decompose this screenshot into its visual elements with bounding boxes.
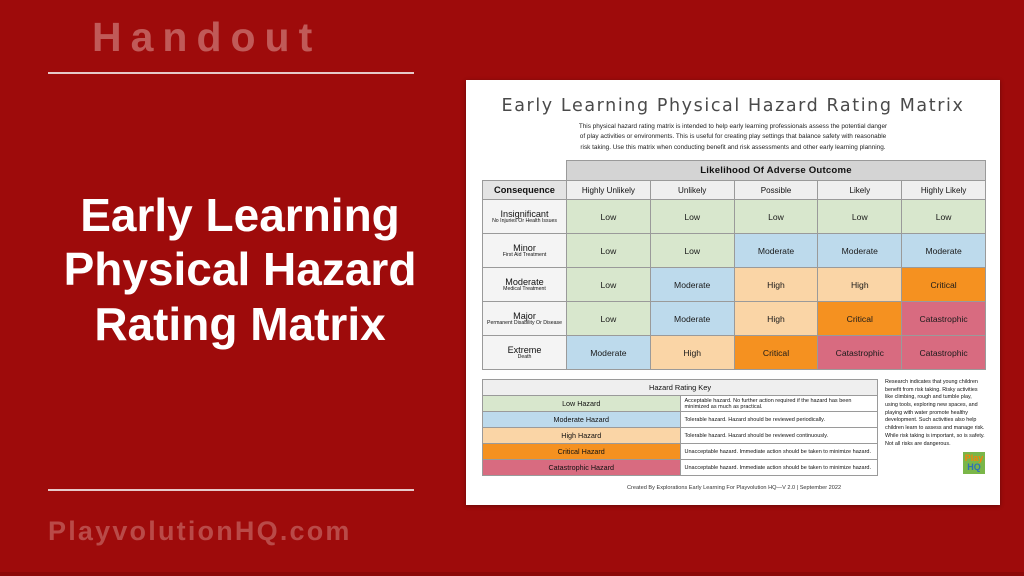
key-label-high: High Hazard	[483, 428, 681, 444]
key-row: Catastrophic HazardUnacceptable hazard. …	[483, 460, 878, 476]
matrix-cell-high: High	[650, 336, 734, 370]
matrix-cell-mod: Moderate	[567, 336, 651, 370]
key-description: Unacceptable hazard. Immediate action sh…	[680, 444, 878, 460]
column-header-highly-unlikely: Highly Unlikely	[567, 181, 651, 200]
likelihood-header: Likelihood Of Adverse Outcome	[567, 161, 986, 181]
row-header-insignificant: InsignificantNo Injuries Or Health Issue…	[483, 200, 567, 234]
hazard-rating-key-table: Hazard Rating Key Low HazardAcceptable h…	[482, 379, 878, 476]
row-header-minor: MinorFirst Aid Treatment	[483, 234, 567, 268]
matrix-cell-cat: Catastrophic	[902, 336, 986, 370]
matrix-cell-low: Low	[567, 234, 651, 268]
matrix-cell-cat: Catastrophic	[818, 336, 902, 370]
research-note: Research indicates that young children b…	[885, 379, 985, 448]
intro-line: of play activities or environments. This…	[523, 132, 943, 142]
playhq-logo: Play HQ	[963, 452, 985, 474]
matrix-row: MajorPermanent Disability Or DiseaseLowM…	[483, 302, 986, 336]
row-header-subtitle: Death	[484, 355, 565, 361]
matrix-cell-low: Low	[818, 200, 902, 234]
handout-label: Handout	[92, 14, 321, 61]
column-header-unlikely: Unlikely	[650, 181, 734, 200]
matrix-cell-low: Low	[567, 268, 651, 302]
key-label-cat: Catastrophic Hazard	[483, 460, 681, 476]
matrix-cell-low: Low	[650, 200, 734, 234]
matrix-row: ModerateMedical TreatmentLowModerateHigh…	[483, 268, 986, 302]
matrix-cell-mod: Moderate	[650, 302, 734, 336]
key-label-crit: Critical Hazard	[483, 444, 681, 460]
key-title-row: Hazard Rating Key	[483, 380, 878, 396]
matrix-cell-crit: Critical	[734, 336, 818, 370]
key-description: Tolerable hazard. Hazard should be revie…	[680, 428, 878, 444]
matrix-cell-cat: Catastrophic	[902, 302, 986, 336]
document-credit: Created By Explorations Early Learning F…	[482, 485, 986, 491]
matrix-likelihood-header-row: Likelihood Of Adverse Outcome	[483, 161, 986, 181]
matrix-row: ExtremeDeathModerateHighCriticalCatastro…	[483, 336, 986, 370]
key-label-mod: Moderate Hazard	[483, 412, 681, 428]
key-row: Critical HazardUnacceptable hazard. Imme…	[483, 444, 878, 460]
row-header-subtitle: Medical Treatment	[484, 287, 565, 293]
divider-bottom	[48, 489, 414, 491]
matrix-cell-crit: Critical	[902, 268, 986, 302]
matrix-cell-mod: Moderate	[734, 234, 818, 268]
intro-line: risk taking. Use this matrix when conduc…	[523, 143, 943, 153]
matrix-cell-low: Low	[567, 302, 651, 336]
column-header-highly-likely: Highly Likely	[902, 181, 986, 200]
matrix-cell-crit: Critical	[818, 302, 902, 336]
row-header-subtitle: Permanent Disability Or Disease	[484, 321, 565, 327]
matrix-cell-high: High	[818, 268, 902, 302]
key-description: Unacceptable hazard. Immediate action sh…	[680, 460, 878, 476]
matrix-row: MinorFirst Aid TreatmentLowLowModerateMo…	[483, 234, 986, 268]
hazard-matrix-table: Likelihood Of Adverse Outcome Consequenc…	[482, 160, 986, 370]
matrix-cell-mod: Moderate	[650, 268, 734, 302]
website-label: PlayvolutionHQ.com	[48, 516, 414, 547]
matrix-cell-high: High	[734, 268, 818, 302]
row-header-subtitle: No Injuries Or Health Issues	[484, 219, 565, 225]
row-header-moderate: ModerateMedical Treatment	[483, 268, 567, 302]
matrix-cell-mod: Moderate	[902, 234, 986, 268]
document-intro: This physical hazard rating matrix is in…	[523, 122, 943, 153]
matrix-row: InsignificantNo Injuries Or Health Issue…	[483, 200, 986, 234]
row-header-major: MajorPermanent Disability Or Disease	[483, 302, 567, 336]
document-card: Early Learning Physical Hazard Rating Ma…	[466, 80, 1000, 505]
divider-top	[48, 72, 414, 74]
document-title: Early Learning Physical Hazard Rating Ma…	[482, 96, 984, 116]
row-header-subtitle: First Aid Treatment	[484, 253, 565, 259]
key-and-research: Hazard Rating Key Low HazardAcceptable h…	[482, 379, 986, 476]
key-description: Acceptable hazard. No further action req…	[680, 396, 878, 412]
slide-root: Handout Early Learning Physical Hazard R…	[0, 0, 1024, 576]
matrix-cell-low: Low	[734, 200, 818, 234]
column-header-possible: Possible	[734, 181, 818, 200]
matrix-corner-blank	[483, 161, 567, 181]
matrix-cell-mod: Moderate	[818, 234, 902, 268]
intro-line: This physical hazard rating matrix is in…	[523, 122, 943, 132]
matrix-cell-low: Low	[567, 200, 651, 234]
matrix-cell-low: Low	[902, 200, 986, 234]
key-label-low: Low Hazard	[483, 396, 681, 412]
matrix-cell-low: Low	[650, 234, 734, 268]
row-header-extreme: ExtremeDeath	[483, 336, 567, 370]
page-title: Early Learning Physical Hazard Rating Ma…	[20, 188, 460, 351]
bottom-accent-bar	[0, 572, 1024, 576]
matrix-cell-high: High	[734, 302, 818, 336]
consequence-header: Consequence	[483, 181, 567, 200]
key-row: High HazardTolerable hazard. Hazard shou…	[483, 428, 878, 444]
column-header-likely: Likely	[818, 181, 902, 200]
key-description: Tolerable hazard. Hazard should be revie…	[680, 412, 878, 428]
key-row: Low HazardAcceptable hazard. No further …	[483, 396, 878, 412]
key-title: Hazard Rating Key	[483, 380, 878, 396]
matrix-column-header-row: Consequence Highly Unlikely Unlikely Pos…	[483, 181, 986, 200]
slide-left-panel: Handout Early Learning Physical Hazard R…	[0, 0, 466, 576]
key-row: Moderate HazardTolerable hazard. Hazard …	[483, 412, 878, 428]
logo-line-hq: HQ	[967, 463, 981, 472]
